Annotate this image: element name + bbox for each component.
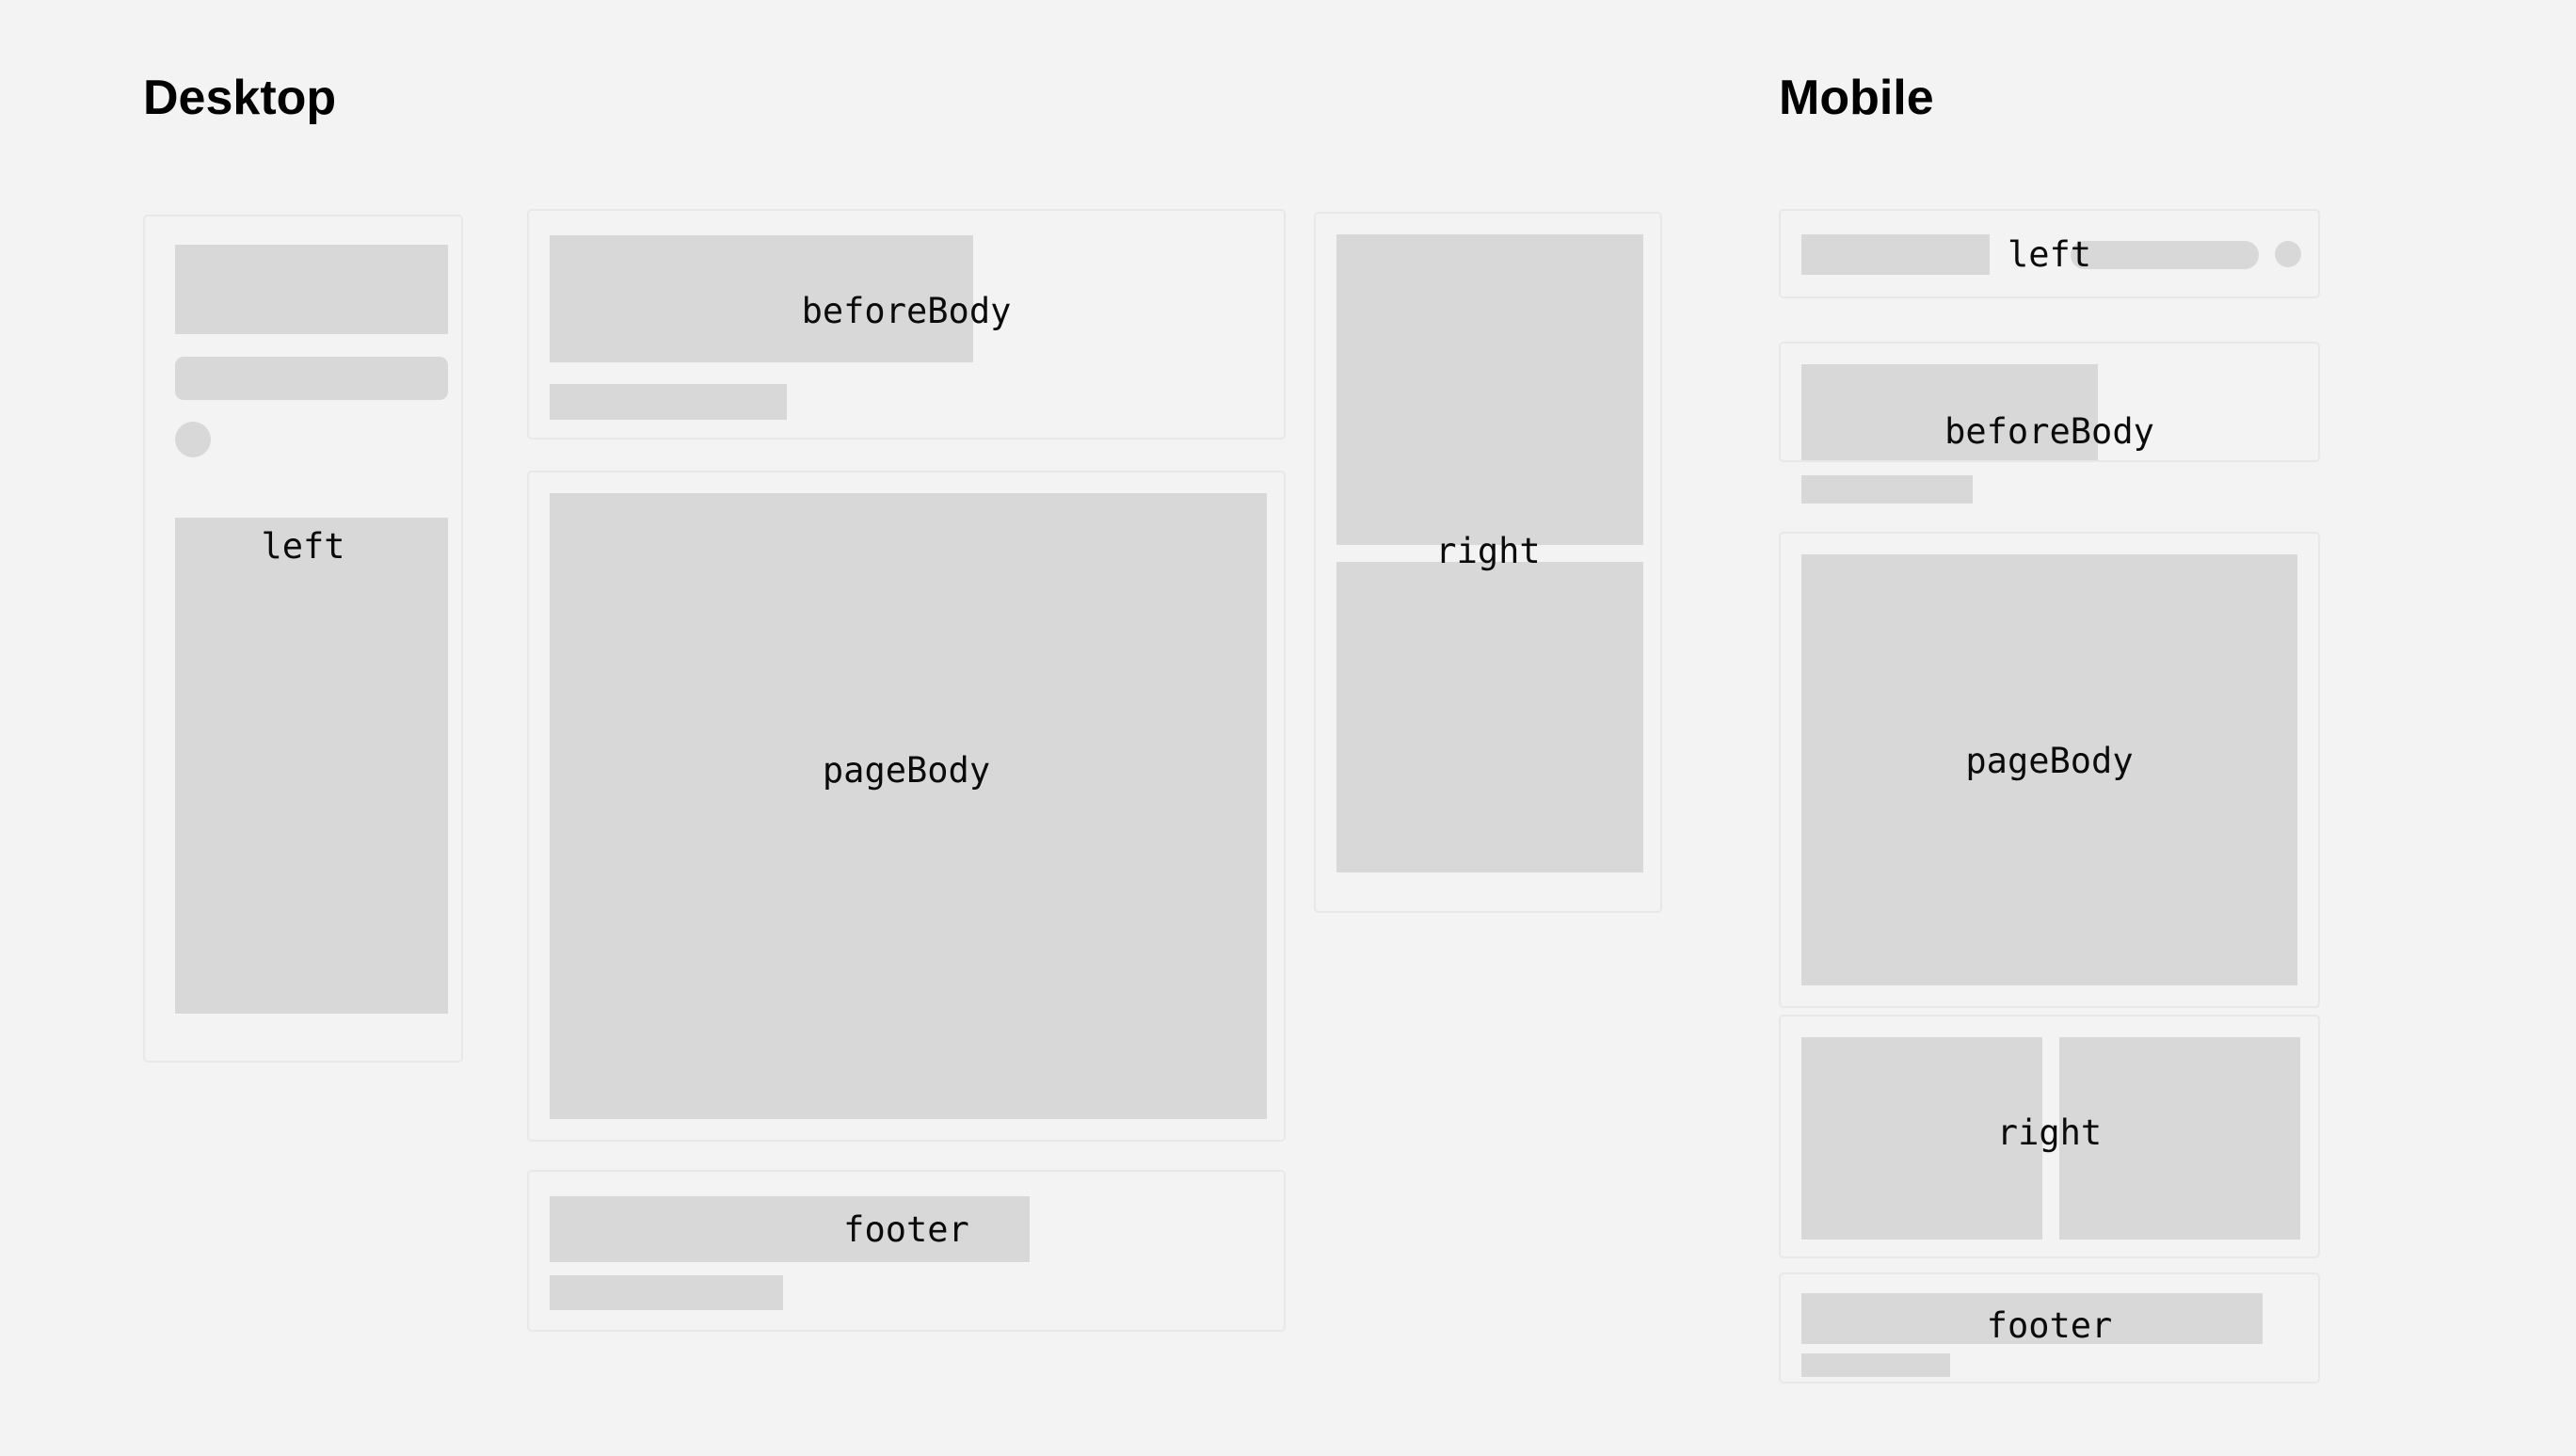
desktop-slot-left-panel[interactable]	[143, 215, 463, 1063]
skeleton-block-rect-square	[1801, 1037, 2042, 1240]
skeleton-block-circle	[175, 422, 211, 457]
skeleton-block-rect-wide	[1801, 364, 2098, 460]
skeleton-block-wide-bar	[1801, 1293, 2263, 1344]
desktop-slot-footer-panel[interactable]	[527, 1170, 1286, 1332]
desktop-slot-pagebody-panel[interactable]	[527, 471, 1286, 1142]
skeleton-block-rounded-bar	[175, 357, 448, 400]
skeleton-block-small-bar	[550, 1275, 783, 1310]
skeleton-block-rect-square	[2059, 1037, 2300, 1240]
mobile-slot-footer-panel[interactable]	[1779, 1272, 2320, 1384]
skeleton-block-rect-bar	[1801, 234, 1990, 275]
skeleton-block-rect-large	[550, 493, 1267, 1119]
mobile-slot-beforebody-panel[interactable]	[1779, 342, 2320, 462]
mobile-slot-pagebody-panel[interactable]	[1779, 532, 2320, 1008]
skeleton-block-circle	[2275, 241, 2301, 267]
skeleton-block-small-bar	[1801, 475, 1973, 504]
desktop-slot-right-panel[interactable]	[1314, 212, 1662, 913]
skeleton-block-small-bar	[550, 384, 787, 420]
skeleton-block-small-bar	[1801, 1353, 1950, 1377]
skeleton-block-rect-tall	[175, 518, 448, 1014]
mobile-slot-right-panel[interactable]	[1779, 1015, 2320, 1258]
mobile-slot-left-panel[interactable]	[1779, 209, 2320, 298]
skeleton-block-rect	[175, 245, 448, 334]
section-heading-mobile: Mobile	[1779, 73, 1934, 122]
skeleton-block-rect-wide	[550, 235, 973, 362]
skeleton-block-rect-square	[1336, 234, 1643, 545]
skeleton-block-rect-square	[1336, 562, 1643, 872]
skeleton-block-rect-large	[1801, 554, 2297, 985]
skeleton-block-rounded-pill	[2071, 241, 2259, 269]
layout-preview-page: { "page": { "background_color": "#f3f3f3…	[0, 0, 2576, 1456]
section-heading-desktop: Desktop	[143, 73, 336, 122]
skeleton-block-wide-bar	[550, 1196, 1030, 1262]
desktop-slot-beforebody-panel[interactable]	[527, 209, 1286, 440]
